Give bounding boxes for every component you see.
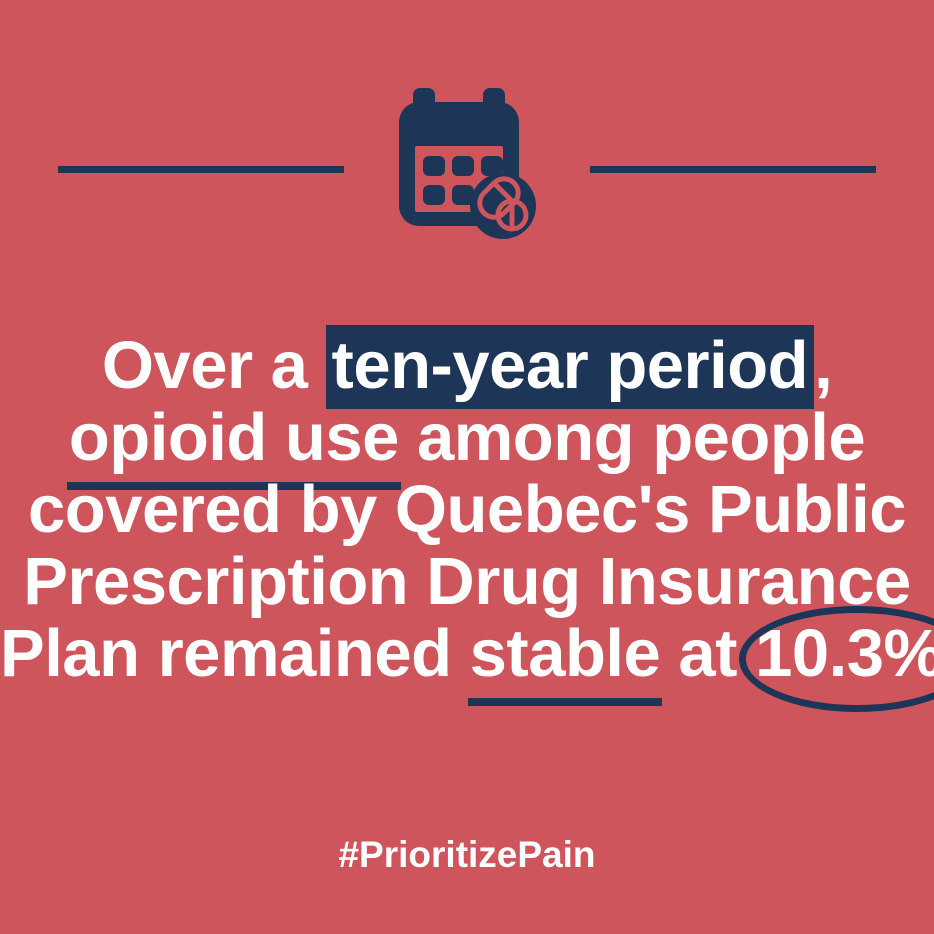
headline-text-plain: at <box>660 616 755 691</box>
headline-text-plain: among people <box>399 400 865 475</box>
campaign-hashtag: #PrioritizePain <box>0 834 934 876</box>
calendar-with-pills-icon <box>381 88 553 248</box>
headline-line-4: Prescription Drug Insurance <box>0 546 934 618</box>
page-title: Over a ten-year period, opioid use among… <box>0 330 934 690</box>
headline-text-plain: , <box>814 328 832 403</box>
highlight-ten-year-period: ten-year period <box>326 325 815 409</box>
calendar-with-pills-glyph <box>381 88 553 248</box>
headline-text-plain: Over a <box>102 328 326 403</box>
header-band <box>0 88 934 248</box>
divider-rule-right <box>590 166 876 173</box>
underline-stable: stable <box>470 618 661 690</box>
headline-line-2: opioid use among people <box>0 402 934 474</box>
circled-statistic-value: 10.3%. <box>755 618 934 690</box>
underline-opioid-use: opioid use <box>69 402 399 474</box>
headline-line-3: covered by Quebec's Public <box>0 474 934 546</box>
divider-rule-left <box>58 166 344 173</box>
headline-text-plain: Plan remained <box>0 616 470 691</box>
infographic-card: Over a ten-year period, opioid use among… <box>0 0 934 934</box>
headline-line-1: Over a ten-year period, <box>0 330 934 402</box>
headline-line-5: Plan remained stable at 10.3%. <box>0 618 934 690</box>
